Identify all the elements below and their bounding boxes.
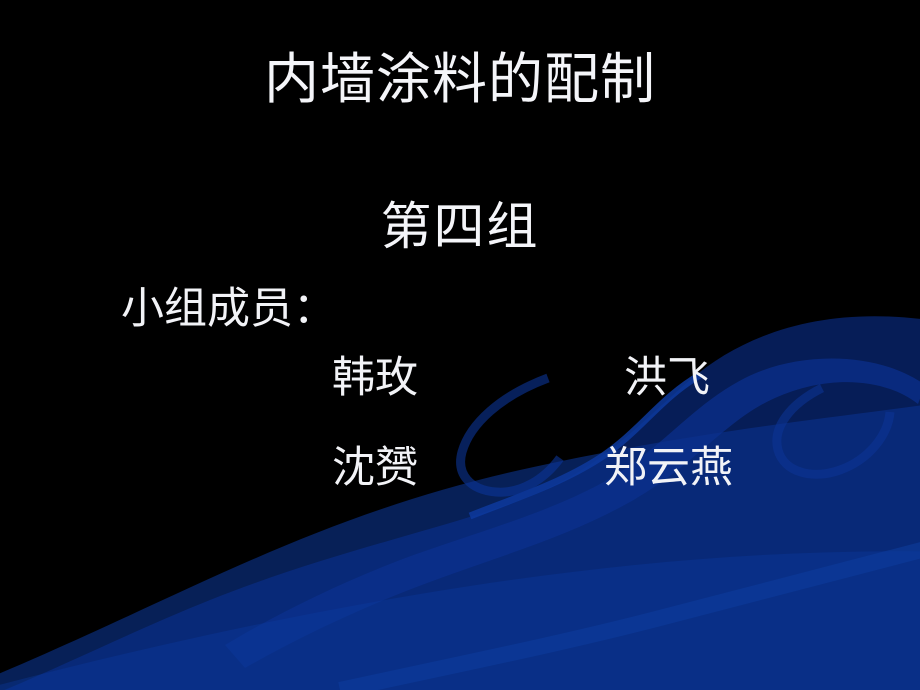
- member-name: 郑云燕: [604, 447, 733, 490]
- ribbon-sweep-thin: [340, 540, 920, 690]
- member-row: 沈赟 郑云燕: [0, 447, 920, 497]
- slide-subtitle: 第四组: [0, 202, 920, 253]
- presentation-slide: 内墙涂料的配制 第四组 小组成员： 韩玫 洪飞 沈赟 郑云燕: [0, 0, 920, 690]
- ribbon-sweep-lower: [0, 400, 920, 690]
- member-row: 韩玫 洪飞: [0, 357, 920, 407]
- members-label: 小组成员：: [121, 288, 336, 331]
- ribbon-sweep-bottom: [0, 551, 920, 690]
- member-name: 沈赟: [332, 447, 418, 490]
- slide-title: 内墙涂料的配制: [0, 52, 920, 107]
- member-name: 洪飞: [624, 357, 710, 400]
- member-name: 韩玫: [332, 357, 418, 400]
